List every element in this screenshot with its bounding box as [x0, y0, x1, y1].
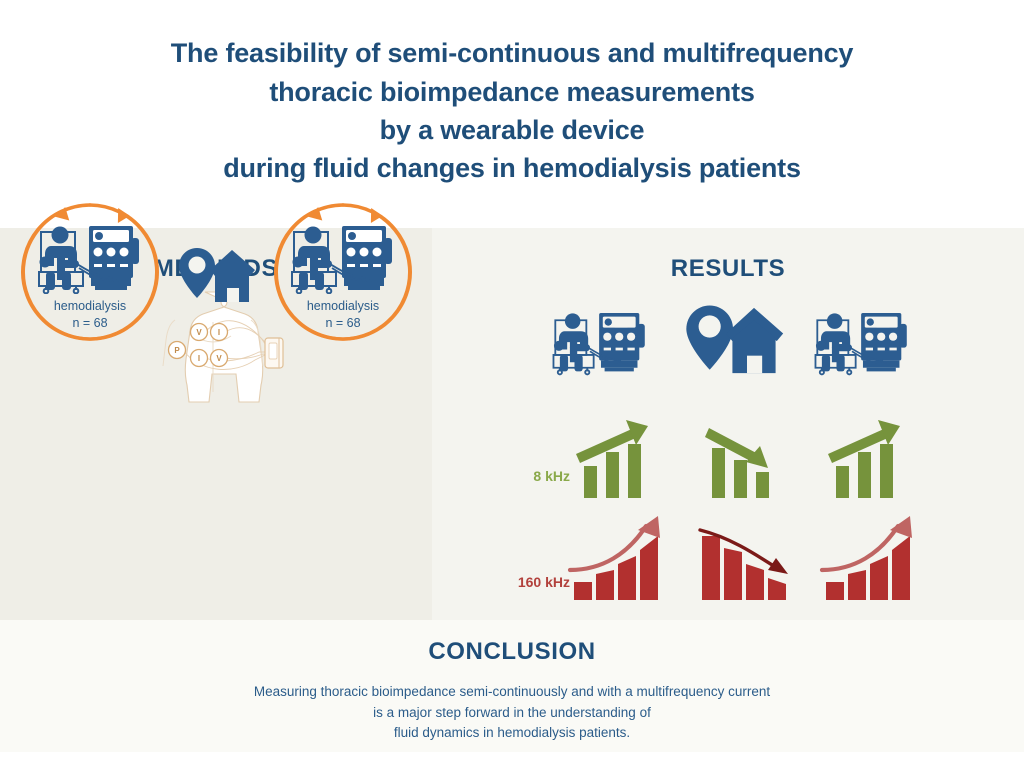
page-title: The feasibility of semi-continuous and m… [171, 34, 854, 193]
hemodialysis-patient-icon [286, 222, 401, 294]
bar-chart-rising-icon [562, 420, 682, 512]
home-location-icon [684, 296, 789, 392]
bar-chart-falling-icon [690, 420, 810, 512]
frequency-label-160khz: 160 kHz [460, 574, 570, 590]
methods-group-2-n: n = 68 [258, 315, 428, 332]
conclusion-body: Measuring thoracic bioimpedance semi-con… [0, 682, 1024, 744]
title-line-4: during fluid changes in hemodialysis pat… [171, 149, 854, 187]
conclusion-line-2: is a major step forward in the understan… [0, 703, 1024, 724]
methods-group-1: hemodialysis n = 68 [5, 192, 175, 372]
methods-group-1-label: hemodialysis [54, 299, 126, 313]
hemodialysis-session-icon [810, 296, 915, 392]
methods-group-1-n: n = 68 [5, 315, 175, 332]
conclusion-line-1: Measuring thoracic bioimpedance semi-con… [0, 682, 1024, 703]
methods-group-2-caption: hemodialysis n = 68 [258, 298, 428, 332]
methods-group-2-label: hemodialysis [307, 299, 379, 313]
bar-chart-curve-falling-icon [690, 512, 810, 604]
bar-chart-curve-rising-icon [562, 512, 682, 604]
frequency-label-8khz: 8 kHz [460, 468, 570, 484]
bar-chart-curve-rising-icon [814, 512, 934, 604]
methods-study-flow: hemodialysis n = 68 [0, 192, 432, 392]
methods-group-1-caption: hemodialysis n = 68 [5, 298, 175, 332]
results-heading: RESULTS [432, 255, 1024, 283]
title-line-2: thoracic bioimpedance measurements [171, 73, 854, 111]
bar-chart-rising-icon [814, 420, 934, 512]
home-location-icon [177, 244, 261, 316]
hemodialysis-patient-icon [33, 222, 148, 294]
conclusion-panel: CONCLUSION Measuring thoracic bioimpedan… [0, 620, 1024, 752]
conclusion-line-3: fluid dynamics in hemodialysis patients. [0, 723, 1024, 744]
frequency-row-160khz: 160 kHz [432, 512, 1024, 604]
results-icon-row [432, 296, 1024, 396]
title-line-1: The feasibility of semi-continuous and m… [171, 34, 854, 72]
methods-group-2: hemodialysis n = 68 [258, 192, 428, 372]
bottom-white-strip [0, 752, 1024, 768]
graphical-abstract-poster: The feasibility of semi-continuous and m… [0, 0, 1024, 768]
hemodialysis-session-icon [548, 296, 653, 392]
title-line-3: by a wearable device [171, 111, 854, 149]
frequency-row-8khz: 8 kHz [432, 420, 1024, 512]
conclusion-heading: CONCLUSION [0, 638, 1024, 666]
